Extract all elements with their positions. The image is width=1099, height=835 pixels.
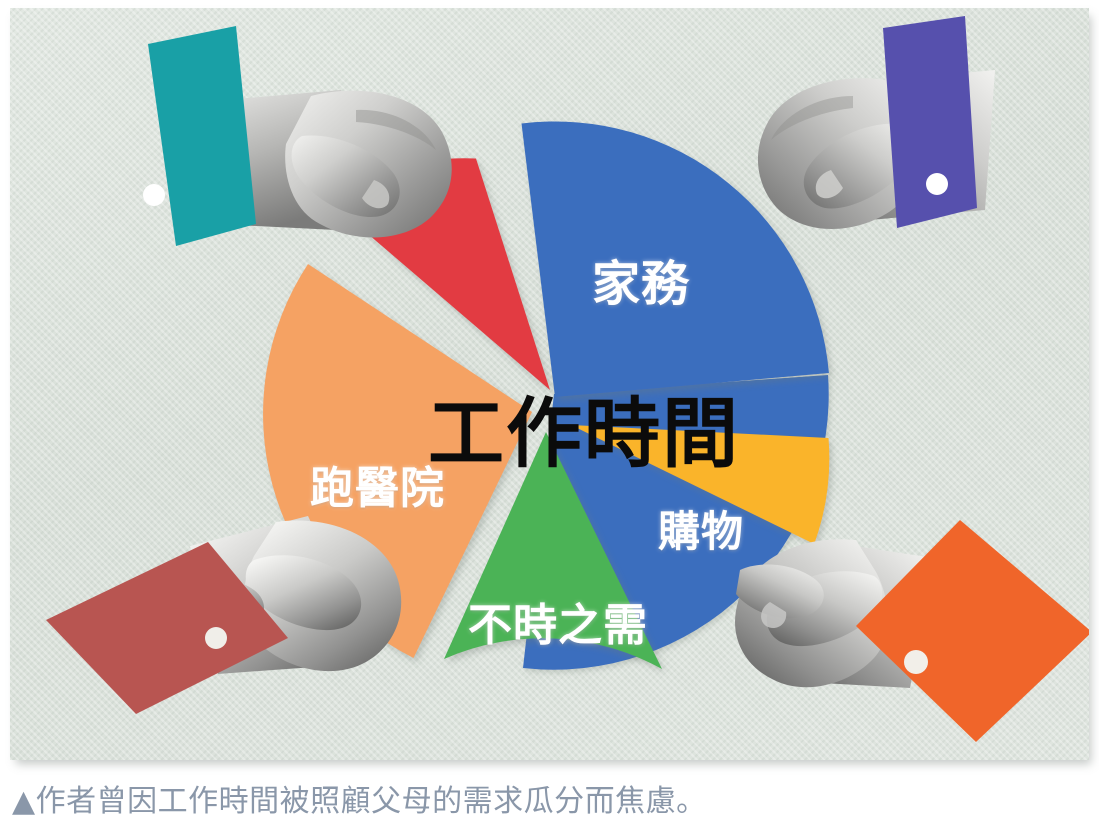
card-top-right[interactable] — [883, 16, 977, 228]
illustration-photo: 家務 購物 不時之需 跑醫院 工作時間 — [10, 8, 1089, 760]
pie-label-shopping: 購物 — [658, 498, 744, 559]
card-dot-top-right — [926, 173, 948, 195]
pie-label-needs: 不時之需 — [468, 589, 648, 653]
hand-top-right-group — [665, 12, 1089, 322]
chart-center-title: 工作時間 — [428, 372, 740, 482]
card-dot-top-left — [143, 184, 165, 206]
hand-bottom-left-group — [40, 488, 460, 760]
figure-caption: ▲作者曾因工作時間被照顧父母的需求瓜分而焦慮。 — [12, 776, 1082, 820]
hand-top-left-group — [106, 24, 526, 324]
card-top-left[interactable] — [148, 26, 256, 246]
card-dot-bottom-left — [205, 627, 227, 649]
card-dot-bottom-right — [904, 650, 928, 674]
pie-label-housework: 家務 — [592, 244, 690, 314]
pie-label-hospital: 跑醫院 — [310, 452, 445, 516]
